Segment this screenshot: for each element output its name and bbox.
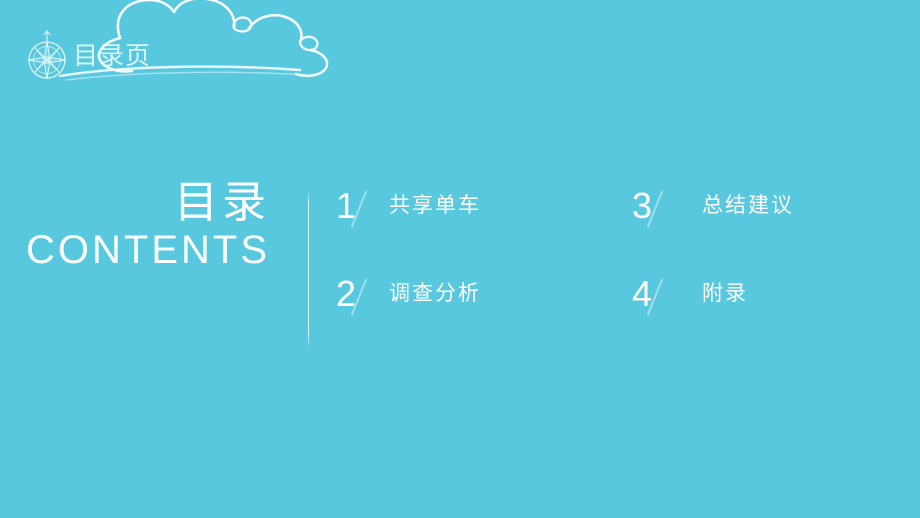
- vertical-divider: [308, 192, 309, 349]
- menu-item-4[interactable]: 4 附录: [626, 274, 896, 322]
- menu-number-wrap-3: 3: [632, 186, 680, 232]
- menu-label-1: 共享单车: [389, 186, 481, 226]
- contents-menu: 1 共享单车 3 总结建议 2 调查分析 4 附录: [336, 186, 896, 362]
- page-title-en: CONTENTS: [0, 228, 270, 272]
- header-badge: 目录页: [22, 29, 151, 83]
- menu-label-4: 附录: [702, 274, 748, 314]
- slide-canvas: 目录页 目录 CONTENTS 1 共享单车 3 总结建议 2: [0, 0, 920, 518]
- title-block: 目录 CONTENTS: [0, 178, 286, 272]
- page-title-cn: 目录: [0, 178, 270, 228]
- menu-label-2: 调查分析: [389, 274, 481, 314]
- menu-number-wrap-1: 1: [336, 186, 384, 232]
- menu-number-wrap-4: 4: [632, 274, 680, 320]
- compass-rose-icon: [22, 29, 72, 83]
- menu-number-wrap-2: 2: [336, 274, 384, 320]
- menu-label-3: 总结建议: [702, 186, 794, 226]
- menu-item-1[interactable]: 1 共享单车: [336, 186, 606, 234]
- header-title: 目录页: [73, 44, 151, 69]
- menu-item-3[interactable]: 3 总结建议: [626, 186, 896, 234]
- menu-item-2[interactable]: 2 调查分析: [336, 274, 606, 322]
